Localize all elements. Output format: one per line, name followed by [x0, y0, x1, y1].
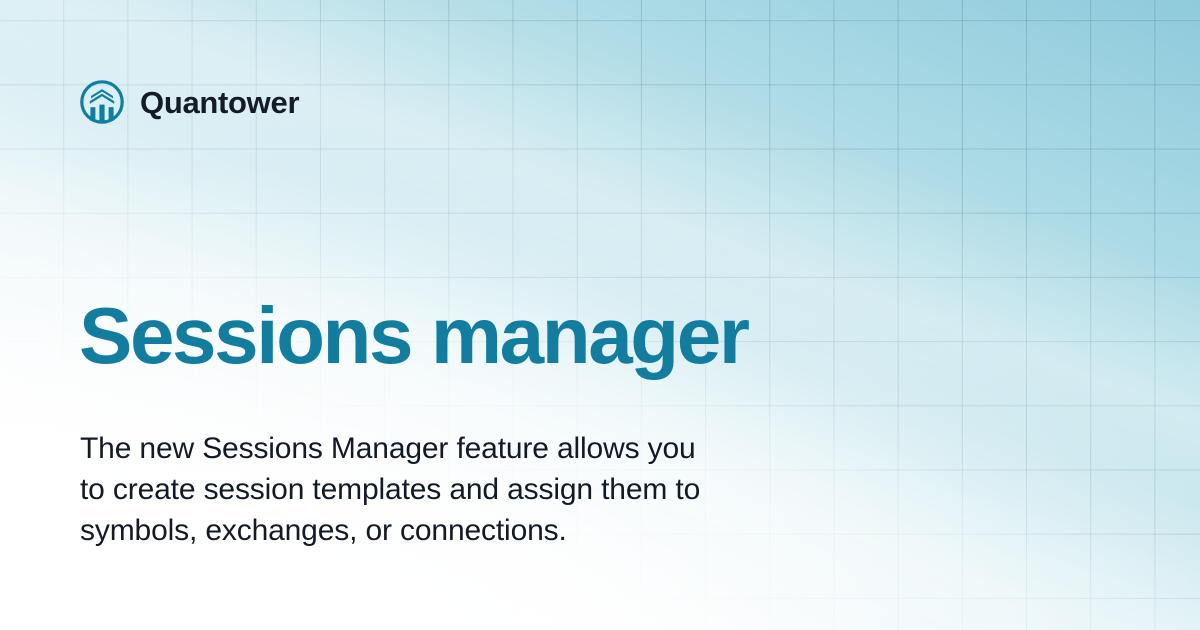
subtitle-line-1: The new Sessions Manager feature allows …: [80, 428, 870, 469]
brand-lockup: Quantower: [80, 80, 299, 124]
page-title: Sessions manager: [79, 296, 748, 376]
page-subtitle: The new Sessions Manager feature allows …: [80, 428, 870, 551]
brand-name: Quantower: [140, 87, 299, 118]
promo-banner: Quantower Sessions manager The new Sessi…: [0, 0, 1200, 630]
quantower-tower-logo-icon: [80, 80, 124, 124]
banner-content: Quantower Sessions manager The new Sessi…: [0, 0, 1200, 630]
subtitle-line-3: symbols, exchanges, or connections.: [80, 510, 870, 551]
subtitle-line-2: to create session templates and assign t…: [80, 469, 870, 510]
